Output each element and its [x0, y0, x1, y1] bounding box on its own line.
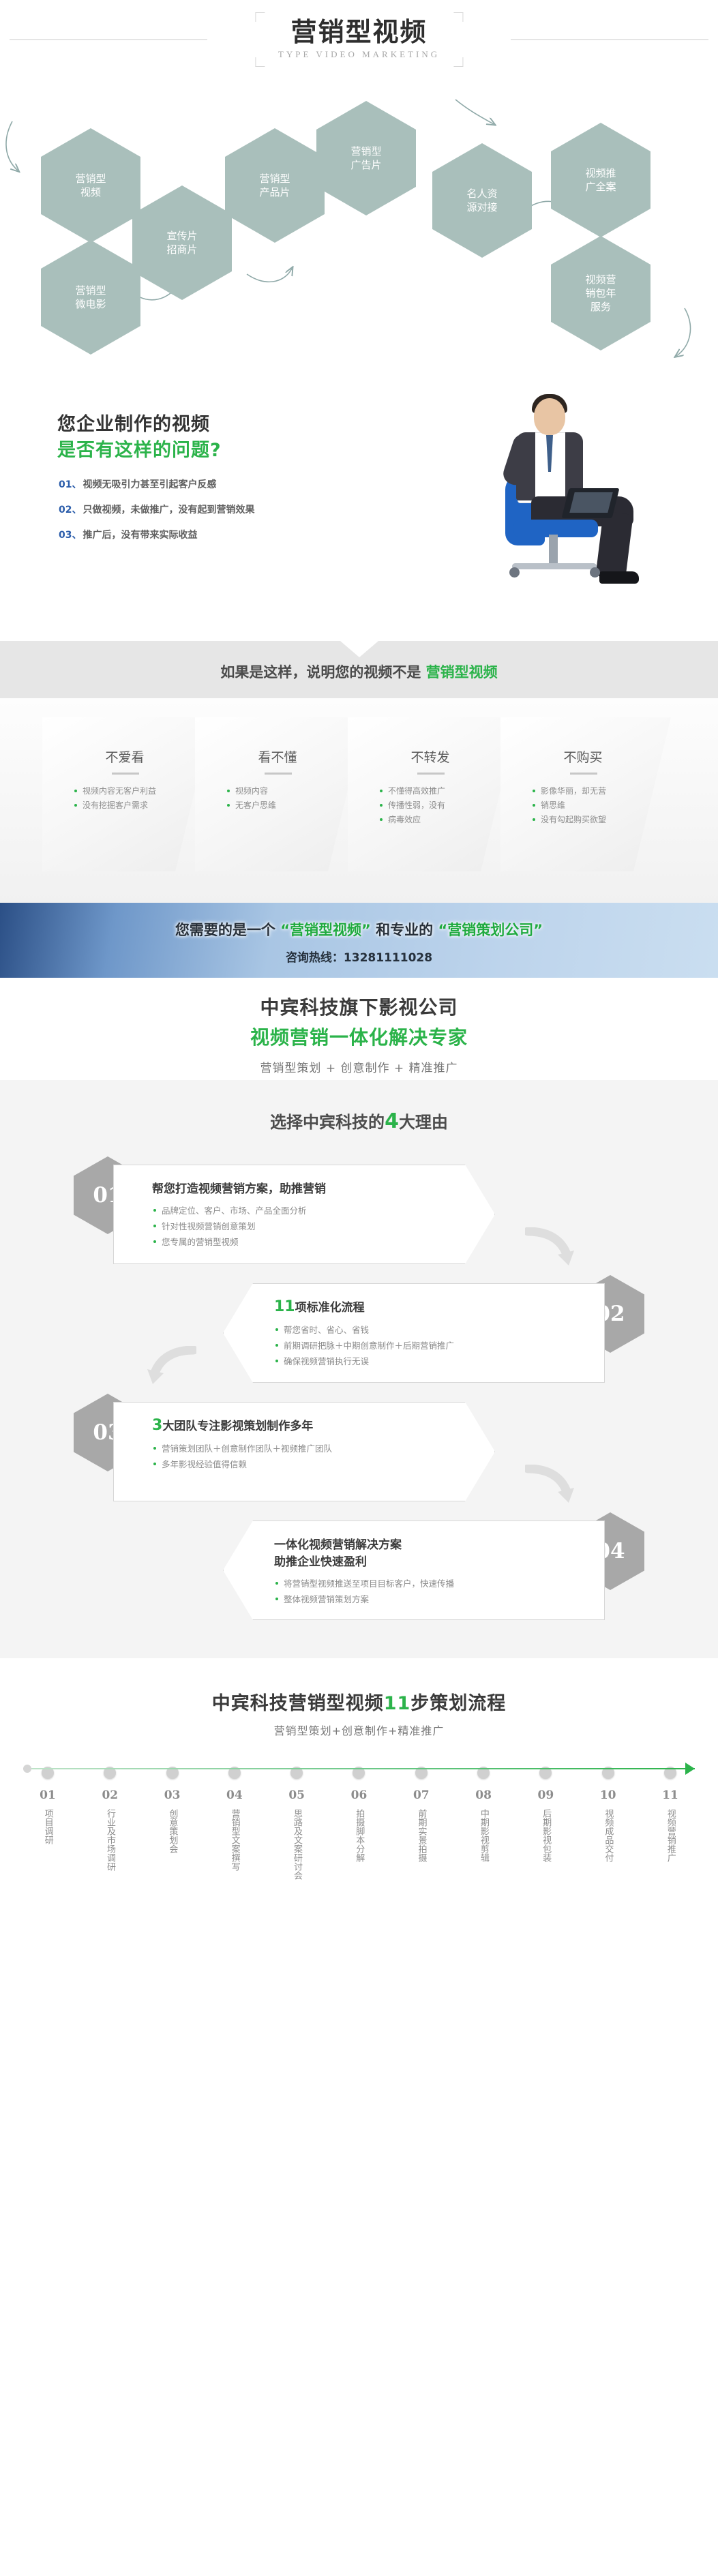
reason-row-1: 01 帮您打造视频营销方案，助推营销 品牌定位、客户、市场、产品全面分析 针对性…: [0, 1156, 718, 1275]
hex-label: 视频推 广全案: [585, 166, 616, 194]
reason-heading: 帮您打造视频营销方案，助推营销: [152, 1179, 453, 1196]
cta-part-b: 和专业的: [371, 922, 438, 938]
hex-service-5[interactable]: 视频推 广全案: [551, 123, 650, 237]
step-label: 前期实景拍摄: [415, 1809, 428, 1862]
card-title: 不转发: [379, 747, 481, 766]
step-item-07[interactable]: 07 前期实景拍摄: [397, 1767, 446, 1880]
reason-heading-num: 3: [152, 1417, 162, 1434]
reason-row-2: 02 11项标准化流程 帮您省时、省心、省钱 前期调研把脉＋中期创意制作＋后期营…: [0, 1275, 718, 1394]
card-bullet-cont: 病毒效应: [379, 813, 511, 827]
card-rule: [570, 773, 597, 775]
page-subtitle: TYPE VIDEO MARKETING: [278, 49, 440, 60]
hex-service-2[interactable]: 营销型 产品片: [225, 128, 325, 243]
flow-arrow-icon: [145, 1346, 196, 1387]
header-title-block: 营销型视频 TYPE VIDEO MARKETING: [255, 12, 463, 67]
hex-service-4[interactable]: 名人资 源对接: [432, 143, 532, 258]
hex-label: 宣传片 招商片: [166, 229, 197, 257]
reason-box-03[interactable]: 3大团队专注影视策划制作多年 营销策划团队＋创意制作团队＋视频推广团队 多年影视…: [113, 1402, 495, 1501]
service-hex-cloud: 营销型 视频 宣传片 招商片 营销型 产品片 营销型 广告片 名人资 源对接 视…: [0, 89, 718, 368]
step-number: 10: [584, 1788, 633, 1802]
problem-heading-line1: 您企业制作的视频: [57, 409, 210, 436]
header-rule-left: [10, 39, 207, 40]
problem-item: 02、只做视频，未做推广，没有起到营销效果: [59, 503, 254, 516]
businessman-photo: [432, 393, 677, 611]
cta-green-1: “营销型视频”: [280, 922, 371, 938]
chair-base: [512, 563, 597, 569]
reason-heading: 一体化视频营销解决方案 助推企业快速盈利: [274, 1535, 577, 1569]
reason-row-3: 03 3大团队专注影视策划制作多年 营销策划团队＋创意制作团队＋视频推广团队 多…: [0, 1394, 718, 1512]
step-label: 后期影视包装: [539, 1809, 553, 1862]
card-bullet: 没有勾起购买欲望: [532, 813, 664, 827]
step-item-09[interactable]: 09 后期影视包装: [521, 1767, 570, 1880]
corner-mark-br: [453, 57, 463, 67]
card-rule: [417, 773, 445, 775]
reasons-title-a: 选择中宾科技的: [270, 1113, 385, 1132]
cta-line1: 您需要的是一个 “营销型视频” 和专业的 “营销策划公司”: [175, 919, 543, 940]
step-number: 01: [23, 1788, 72, 1802]
steps-line: [23, 1768, 695, 1769]
card-bullet: 视频内容: [226, 784, 359, 798]
steps-end-arrow-icon: [685, 1763, 695, 1775]
gray-banner-green: 营销型视频: [426, 664, 498, 680]
hex-label: 营销型 视频: [75, 172, 106, 200]
card-rule: [265, 773, 292, 775]
symptom-card-1[interactable]: 看不懂 视频内容 无客户思维: [195, 717, 365, 871]
reason-heading: 11项标准化流程: [274, 1298, 577, 1315]
cta-green-2: “营销策划公司”: [438, 922, 543, 938]
step-number: 07: [397, 1788, 446, 1802]
gray-banner-plain: 如果是这样，说明您的视频不是: [220, 664, 425, 680]
chair-wheel: [509, 567, 520, 578]
header-rule-right: [511, 39, 708, 40]
reason-box-04[interactable]: 一体化视频营销解决方案 助推企业快速盈利 将营销型视频推送至项目目标客户，快速传…: [223, 1521, 605, 1620]
reason-bullet: 品牌定位、客户、市场、产品全面分析: [152, 1203, 453, 1218]
reason-heading: 3大团队专注影视策划制作多年: [152, 1416, 453, 1434]
cta-blue-banner: 您需要的是一个 “营销型视频” 和专业的 “营销策划公司” 咨询热线：13281…: [0, 903, 718, 978]
hex-label: 营销型 广告片: [350, 145, 381, 173]
step-number: 03: [148, 1788, 197, 1802]
reason-bullet: 整体视频营销策划方案: [274, 1591, 577, 1607]
steps-title-a: 中宾科技营销型视频: [212, 1693, 384, 1714]
symptom-card-3[interactable]: 不购买 影像华丽，却无营 销思维 没有勾起购买欲望: [500, 717, 671, 871]
reasons-section: 选择中宾科技的4大理由 01 帮您打造视频营销方案，助推营销 品牌定位、客户、市…: [0, 1080, 718, 1658]
card-title: 看不懂: [226, 747, 329, 766]
gray-banner-text: 如果是这样，说明您的视频不是 营销型视频: [220, 661, 497, 682]
problem-heading-line2: 是否有这样的问题?: [57, 435, 222, 462]
step-label: 视频成品交付: [601, 1809, 615, 1862]
gray-banner: 如果是这样，说明您的视频不是 营销型视频: [0, 641, 718, 698]
reason-heading-num: 11: [274, 1298, 295, 1315]
step-number: 08: [459, 1788, 508, 1802]
problem-item-text: 视频无吸引力甚至引起客户反感: [83, 479, 216, 490]
step-label: 思路及文案研讨会: [290, 1809, 303, 1880]
hex-label: 营销型 微电影: [75, 284, 106, 312]
hex-service-0[interactable]: 营销型 视频: [41, 128, 140, 243]
hex-service-6[interactable]: 营销型 微电影: [41, 240, 140, 355]
step-number: 02: [85, 1788, 134, 1802]
step-label: 视频营销推广: [663, 1809, 677, 1862]
steps-grid: 01 项目调研 02 行业及市场调研 03 创意策划会 04 营销型文案撰写 0…: [0, 1767, 718, 1880]
flow-arrow-icon: [525, 1227, 577, 1268]
step-label: 创意策划会: [166, 1809, 179, 1853]
reason-bullet: 营销策划团队＋创意制作团队＋视频推广团队: [152, 1441, 453, 1456]
reason-box-01[interactable]: 帮您打造视频营销方案，助推营销 品牌定位、客户、市场、产品全面分析 针对性视频营…: [113, 1165, 495, 1264]
reason-bullet: 帮您省时、省心、省钱: [274, 1322, 577, 1338]
step-number: 11: [646, 1788, 695, 1802]
step-label: 营销型文案撰写: [228, 1809, 241, 1871]
card-title: 不爱看: [74, 747, 176, 766]
step-item-02[interactable]: 02 行业及市场调研: [85, 1767, 134, 1880]
step-item-04[interactable]: 04 营销型文案撰写: [210, 1767, 259, 1880]
step-label: 行业及市场调研: [104, 1809, 117, 1871]
card-bullet: 视频内容无客户利益: [74, 784, 206, 798]
steps-title-b: 步策划流程: [410, 1693, 506, 1714]
card-title: 不购买: [532, 747, 634, 766]
problem-item: 03、推广后，没有带来实际收益: [59, 528, 254, 541]
reasons-title-b: 大理由: [399, 1113, 448, 1132]
step-item-11[interactable]: 11 视频营销推广: [646, 1767, 695, 1880]
symptom-cards: 不爱看 视频内容无客户利益 没有挖掘客户需求 看不懂 视频内容 无客户思维 不转…: [0, 698, 718, 903]
corner-mark-tr: [453, 12, 463, 22]
problem-list: 01、视频无吸引力甚至引起客户反感 02、只做视频，未做推广，没有起到营销效果 …: [59, 477, 254, 553]
banner-notch-icon: [340, 641, 378, 657]
cta-hotline[interactable]: 咨询热线：13281111028: [286, 948, 432, 965]
company-line2: 视频营销一体化解决专家: [0, 1023, 718, 1050]
card-bullet: 没有挖掘客户需求: [74, 798, 206, 813]
problem-section: 您企业制作的视频 是否有这样的问题? 01、视频无吸引力甚至引起客户反感 02、…: [0, 368, 718, 641]
steps-start-dot-icon: [23, 1765, 31, 1773]
step-label: 拍摄脚本分解: [353, 1809, 366, 1862]
steps-title-num: 11: [384, 1693, 411, 1714]
step-number: 05: [272, 1788, 321, 1802]
chair-post: [549, 535, 558, 566]
reason-bullet: 针对性视频营销创意策划: [152, 1218, 453, 1234]
hex-service-7[interactable]: 视频营 销包年 服务: [551, 236, 650, 350]
reason-bullet: 将营销型视频推送至项目目标客户，快速传播: [274, 1576, 577, 1591]
corner-mark-bl: [255, 57, 265, 67]
steps-subtitle: 营销型策划+创意制作+精准推广: [0, 1722, 718, 1738]
symptom-card-0[interactable]: 不爱看 视频内容无客户利益 没有挖掘客户需求: [42, 717, 213, 871]
step-item-06[interactable]: 06 拍摄脚本分解: [334, 1767, 383, 1880]
company-line3: 营销型策划 + 创意制作 + 精准推广: [0, 1058, 718, 1075]
step-label: 中期影视剪辑: [477, 1809, 490, 1862]
hex-service-1[interactable]: 宣传片 招商片: [132, 185, 232, 300]
problem-item-text: 推广后，没有带来实际收益: [83, 530, 197, 541]
reason-bullet: 前期调研把脉＋中期创意制作＋后期营销推广: [274, 1338, 577, 1353]
reason-heading-text: 大团队专注影视策划制作多年: [162, 1420, 313, 1433]
company-line1: 中宾科技旗下影视公司: [0, 993, 718, 1020]
step-number: 09: [521, 1788, 570, 1802]
shoe: [599, 571, 639, 584]
vest-left: [516, 432, 535, 500]
reason-bullet: 您专属的营销型视频: [152, 1234, 453, 1250]
company-section: 中宾科技旗下影视公司 视频营销一体化解决专家 营销型策划 + 创意制作 + 精准…: [0, 978, 718, 1080]
reasons-title-num: 4: [385, 1109, 399, 1133]
hex-service-3[interactable]: 营销型 广告片: [316, 101, 416, 215]
reasons-title: 选择中宾科技的4大理由: [0, 1109, 718, 1133]
step-item-03[interactable]: 03 创意策划会: [148, 1767, 197, 1880]
step-item-10[interactable]: 10 视频成品交付: [584, 1767, 633, 1880]
reason-box-02[interactable]: 11项标准化流程 帮您省时、省心、省钱 前期调研把脉＋中期创意制作＋后期营销推广…: [223, 1283, 605, 1383]
step-item-05[interactable]: 05 思路及文案研讨会: [272, 1767, 321, 1880]
chair-wheel: [590, 567, 600, 578]
step-item-01[interactable]: 01 项目调研: [23, 1767, 72, 1880]
corner-mark-tl: [255, 12, 265, 22]
step-label: 项目调研: [41, 1809, 55, 1844]
step-number: 04: [210, 1788, 259, 1802]
card-bullet-cont: 销思维: [532, 798, 664, 813]
hex-label: 视频营 销包年 服务: [585, 273, 616, 314]
step-item-08[interactable]: 08 中期影视剪辑: [459, 1767, 508, 1880]
steps-title: 中宾科技营销型视频11步策划流程: [0, 1688, 718, 1715]
cta-part-a: 您需要的是一个: [175, 922, 280, 938]
card-bullet: 不懂得高效推广: [379, 784, 511, 798]
problem-item-text: 只做视频，未做推广，没有起到营销效果: [83, 505, 254, 515]
card-bullet: 影像华丽，却无营: [532, 784, 664, 798]
problem-item: 01、视频无吸引力甚至引起客户反感: [59, 477, 254, 491]
problem-item-num: 03、: [59, 530, 81, 541]
hex-label: 营销型 产品片: [259, 172, 290, 200]
flow-arrow-icon: [525, 1465, 577, 1506]
page-title: 营销型视频: [278, 19, 440, 46]
head: [534, 398, 565, 435]
reason-bullet: 确保视频营销执行无误: [274, 1353, 577, 1369]
step-number: 06: [334, 1788, 383, 1802]
reason-heading-text: 项标准化流程: [295, 1301, 365, 1315]
reason-bullet: 多年影视经验值得信赖: [152, 1456, 453, 1472]
card-bullet: 传播性弱，没有: [379, 798, 511, 813]
laptop-screen: [569, 492, 612, 513]
steps-section: 中宾科技营销型视频11步策划流程 营销型策划+创意制作+精准推广 01 项目调研…: [0, 1658, 718, 1904]
hex-label: 名人资 源对接: [466, 187, 497, 215]
header-section: 营销型视频 TYPE VIDEO MARKETING: [0, 0, 718, 89]
landing-page: 营销型视频 TYPE VIDEO MARKETING 营销型 视频 宣传片 招商…: [0, 0, 718, 1904]
problem-item-num: 01、: [59, 479, 81, 490]
steps-track: [23, 1761, 695, 1776]
problem-item-num: 02、: [59, 505, 81, 515]
symptom-card-2[interactable]: 不转发 不懂得高效推广 传播性弱，没有 病毒效应: [348, 717, 518, 871]
reason-row-4: 04 一体化视频营销解决方案 助推企业快速盈利 将营销型视频推送至项目目标客户，…: [0, 1512, 718, 1631]
card-rule: [112, 773, 139, 775]
card-bullet: 无客户思维: [226, 798, 359, 813]
